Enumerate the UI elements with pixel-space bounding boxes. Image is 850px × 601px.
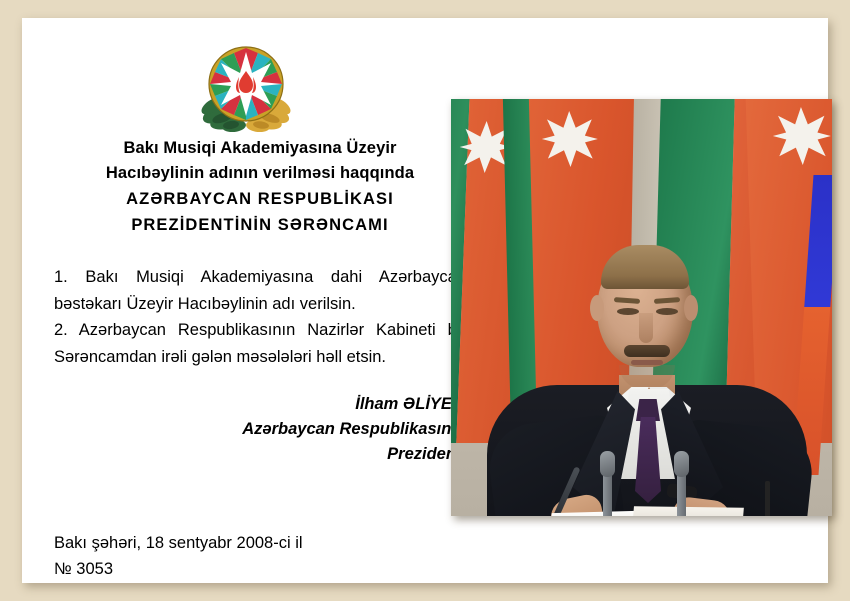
subject-moustache bbox=[624, 345, 670, 357]
signature-name: İlham ƏLİYEV, bbox=[54, 392, 466, 417]
desk-pen bbox=[765, 481, 770, 516]
title-line-3: AZƏRBAYCAN RESPUBLİKASI bbox=[54, 186, 466, 212]
subject-left-eye bbox=[617, 308, 639, 315]
decree-text-column: Bakı Musiqi Akademiyasına Üzeyir Hacıbəy… bbox=[54, 136, 466, 467]
signature-office-line-2: Prezidenti bbox=[54, 442, 466, 467]
screenshot-root: Bakı Musiqi Akademiyasına Üzeyir Hacıbəy… bbox=[0, 0, 850, 601]
subject-right-eye bbox=[656, 308, 678, 315]
microphone-right-head bbox=[674, 451, 689, 477]
azerbaijan-state-emblem-icon bbox=[198, 40, 294, 132]
signature-office-line-1: Azərbaycan Respublikasının bbox=[54, 417, 466, 442]
subject-right-ear bbox=[684, 295, 698, 321]
document-paper-right bbox=[632, 506, 744, 516]
subject-nose bbox=[639, 313, 653, 343]
title-line-1: Bakı Musiqi Akademiyasına Üzeyir bbox=[54, 136, 466, 161]
subject-left-ear bbox=[590, 295, 604, 321]
president-signing-photo bbox=[451, 99, 832, 516]
title-line-2: Hacıbəylinin adının verilməsi haqqında bbox=[54, 161, 466, 186]
footer-number: № 3053 bbox=[54, 556, 474, 582]
decree-title: Bakı Musiqi Akademiyasına Üzeyir Hacıbəy… bbox=[54, 136, 466, 238]
microphone-left-head bbox=[600, 451, 615, 477]
microphone-right-stem bbox=[677, 471, 686, 516]
microphone-left-stem bbox=[603, 471, 612, 516]
decree-clause-1: 1. Bakı Musiqi Akademiyasına dahi Azərba… bbox=[54, 264, 466, 317]
decree-footer: Bakı şəhəri, 18 sentyabr 2008-ci il № 30… bbox=[54, 530, 474, 582]
title-line-4: PREZİDENTİNİN SƏRƏNCAMI bbox=[54, 212, 466, 238]
footer-place-date: Bakı şəhəri, 18 sentyabr 2008-ci il bbox=[54, 530, 474, 556]
decree-body: 1. Bakı Musiqi Akademiyasına dahi Azərba… bbox=[54, 264, 466, 370]
decree-clause-2: 2. Azərbaycan Respublikasının Nazirlər K… bbox=[54, 317, 466, 370]
decree-signature: İlham ƏLİYEV, Azərbaycan Respublikasının… bbox=[54, 392, 466, 467]
